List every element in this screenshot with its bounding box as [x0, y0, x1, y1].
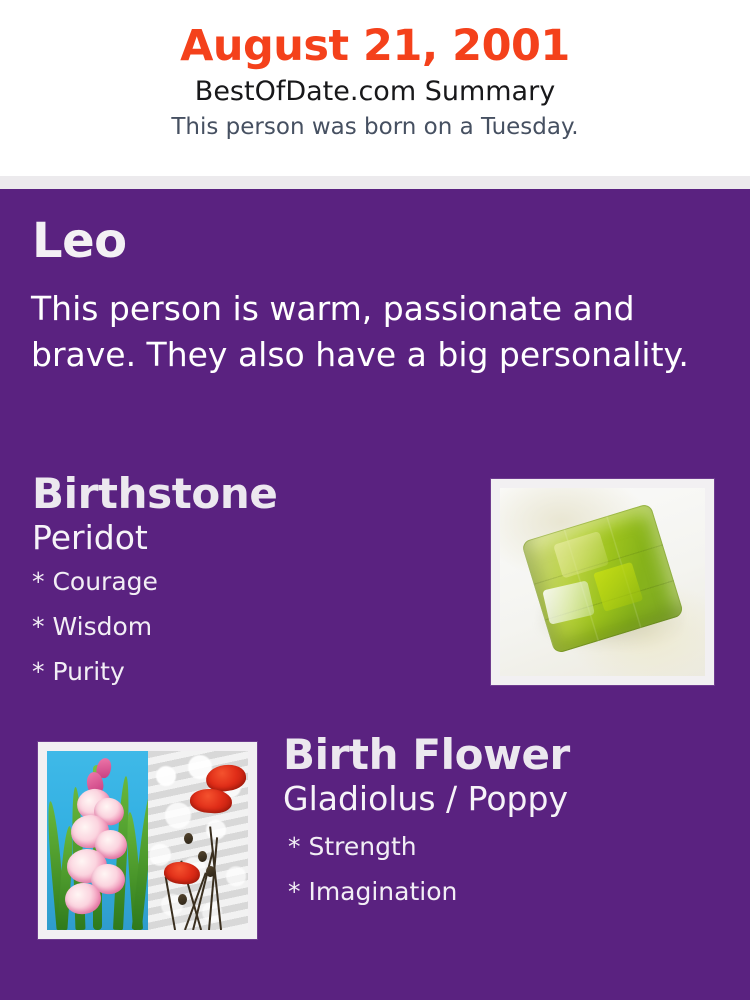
gladiolus-icon	[47, 751, 148, 930]
zodiac-sign-title: Leo	[32, 217, 127, 265]
poppy-icon	[148, 751, 249, 930]
page-title: August 21, 2001	[0, 22, 750, 70]
birthflower-traits-list: * Strength * Imagination	[288, 834, 723, 904]
birthflower-image	[38, 742, 257, 939]
birthflower-name: Gladiolus / Poppy	[283, 780, 723, 818]
birthflower-image-inner	[47, 751, 248, 930]
poppy-bud	[184, 833, 193, 844]
birthstone-image-inner	[500, 488, 705, 676]
poppy-bud	[206, 866, 215, 877]
list-item: * Purity	[32, 659, 462, 684]
birthday-summary-card: August 21, 2001 BestOfDate.com Summary T…	[0, 0, 750, 1000]
poppy-bud	[178, 894, 187, 905]
birthstone-section: Birthstone Peridot * Courage * Wisdom * …	[32, 472, 462, 704]
list-item: * Imagination	[288, 879, 723, 904]
birthstone-image	[491, 479, 714, 685]
header-divider	[0, 176, 750, 189]
list-item: * Strength	[288, 834, 723, 859]
site-subtitle: BestOfDate.com Summary	[0, 76, 750, 108]
peridot-gemstone-icon	[500, 488, 705, 676]
birthstone-name: Peridot	[32, 519, 462, 557]
flower-split-composite	[47, 751, 248, 930]
list-item: * Courage	[32, 569, 462, 594]
gem-facet	[542, 580, 595, 624]
birthstone-heading: Birthstone	[32, 472, 462, 516]
birthflower-heading: Birth Flower	[283, 733, 723, 777]
stem	[164, 877, 175, 930]
birth-day-note: This person was born on a Tuesday.	[0, 114, 750, 142]
list-item: * Wisdom	[32, 614, 462, 639]
birthstone-traits-list: * Courage * Wisdom * Purity	[32, 569, 462, 684]
poppy-bud	[198, 851, 207, 862]
poppy-bloom	[189, 787, 233, 814]
poppy-bloom	[163, 860, 201, 886]
zodiac-description: This person is warm, passionate and brav…	[31, 286, 691, 377]
gem-facet	[593, 562, 643, 612]
birthflower-section: Birth Flower Gladiolus / Poppy * Strengt…	[283, 733, 723, 924]
header: August 21, 2001 BestOfDate.com Summary T…	[0, 0, 750, 176]
